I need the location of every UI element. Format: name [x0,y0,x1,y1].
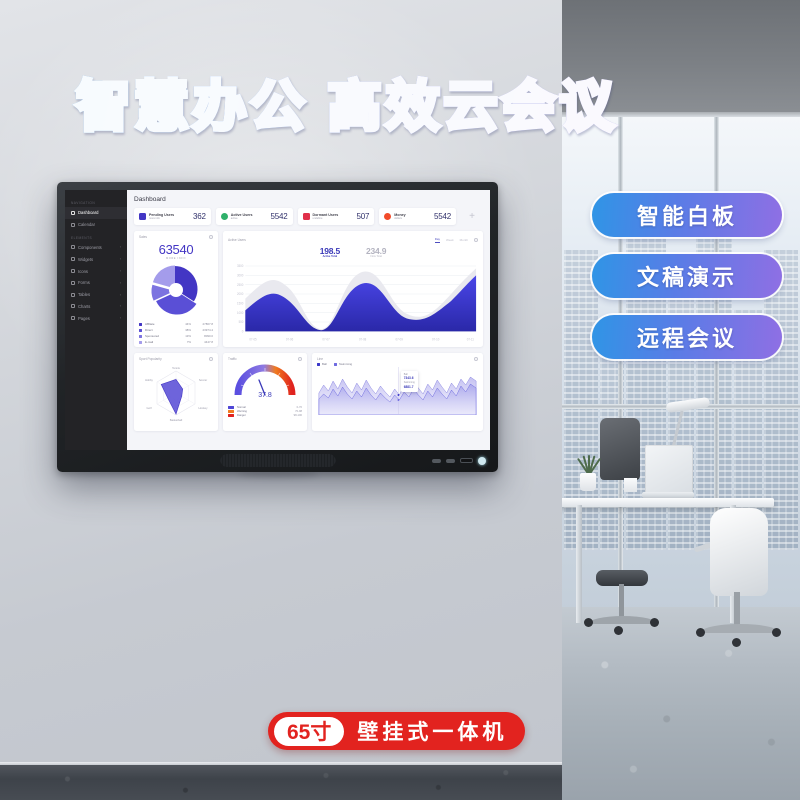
legend-amount: 8090.0 [191,334,213,338]
chart-row-primary: Sales 63540 MORE INFO [134,231,483,347]
svg-text:07-06: 07-06 [286,337,294,341]
gear-icon[interactable] [209,235,213,239]
svg-text:2500: 2500 [237,283,244,287]
svg-text:07-07: 07-07 [322,337,330,341]
desk-top [562,498,774,507]
legend-item-swimming: Swimming [334,362,352,366]
sidebar-item-label: Tables [78,292,117,297]
speaker-grille [220,454,335,467]
stat-subtitle: undefine [313,217,339,220]
card-line-chart: Line Ball Swimming [312,353,483,431]
office-chair-dark-back [600,418,640,480]
feature-pill-remote-meeting[interactable]: 远程会议 [592,315,782,359]
widgets-icon [71,257,75,261]
chevron-right-icon: › [120,281,121,285]
dashboard-sidebar: NAVIGATION Dashboard Calendar ELEMENTS C… [65,190,127,450]
forms-icon [71,281,75,285]
legend-label: Normal [237,406,297,409]
interactive-display-device: NAVIGATION Dashboard Calendar ELEMENTS C… [57,182,498,472]
power-slot[interactable] [460,458,473,463]
sidebar-item-forms[interactable]: Forms › [65,277,127,289]
stat-card-active-users[interactable]: Active Users active 5542 [216,208,293,225]
sidebar-item-widgets[interactable]: Widgets › [65,253,127,265]
area-chart-tabs: 07-05 Day Week Month [429,235,478,245]
card-title: Active Users [228,238,246,242]
sidebar-item-dashboard[interactable]: Dashboard [65,207,127,219]
sidebar-item-label: Calendar [78,222,121,227]
chair-caster [614,626,623,635]
pages-icon [71,316,75,320]
legend-label: Danger [237,414,294,417]
legend-percent: 38% [175,328,191,332]
chevron-right-icon: › [120,269,121,273]
line-chart-plot: Ball 7343.6 Swimming 6881.7 [317,367,478,415]
feature-pill-whiteboard[interactable]: 智能白板 [592,193,782,237]
sidebar-item-label: Dashboard [78,210,121,215]
volume-up-button[interactable] [446,459,455,463]
svg-text:0: 0 [242,329,244,333]
flag-icon [139,213,146,220]
badge-screen-size: 65寸 [274,717,344,746]
legend-swatch [228,414,234,417]
sidebar-item-charts[interactable]: Charts › [65,300,127,312]
office-floor [562,607,800,800]
card-sales-donut: Sales 63540 MORE INFO [134,231,218,347]
legend-swatch [334,363,337,366]
icons-icon [71,269,75,273]
stat-card-money[interactable]: Money dollars 5542 [379,208,456,225]
legend-label: Sponsored [145,334,175,338]
home-icon [71,211,75,215]
legend-item-ball: Ball [317,362,327,366]
svg-text:1500: 1500 [237,301,244,305]
legend-row: Warning 70-98 [228,409,302,413]
gauge-chart: 37.8 [228,361,302,399]
card-title: Line [317,357,323,361]
legend-row: E-mail 7% 4447.8 [139,339,213,345]
stat-card-dormant-users[interactable]: Dormant Users undefine 507 [298,208,375,225]
radar-chart: Tennis Soccer Hockey Basketball Golf Hob… [139,361,213,423]
chair-caster [650,618,659,627]
donut-center-label: MORE INFO [139,257,213,260]
potted-plant-pot [580,473,596,491]
sidebar-item-pages[interactable]: Pages › [65,312,127,324]
feature-pill-list: 智能白板 文稿演示 远程会议 [592,193,782,376]
power-indicator-icon [478,457,486,465]
coin-icon [384,213,391,220]
area-chart-plot: 3500 3000 2500 2000 1500 1000 500 0 07-0… [228,259,478,343]
tab-day-label[interactable]: Day [435,237,440,243]
leaf-icon [221,213,228,220]
card-traffic-gauge: Traffic [223,353,307,431]
legend-range: 70-98 [295,410,302,413]
sidebar-item-icons[interactable]: Icons › [65,265,127,277]
office-chair-white-back [710,508,768,596]
sidebar-item-label: Charts [78,304,117,309]
legend-row: Normal 0-70 [228,405,302,409]
laptop-screen [645,445,693,494]
legend-swatch [317,363,320,366]
stat-value: 5542 [271,212,288,221]
legend-label: E-mail [145,340,175,344]
svg-text:2000: 2000 [237,292,244,296]
sidebar-item-tables[interactable]: Tables › [65,289,127,301]
donut-chart [139,263,213,317]
sidebar-item-label: Forms [78,280,117,285]
chair-caster [772,628,781,637]
sidebar-item-label: Widgets [78,257,117,262]
tab-week[interactable]: Week [446,238,454,243]
potted-plant-leaves [580,448,597,475]
gear-icon[interactable] [474,357,478,361]
legend-amount: 23974.4 [191,328,213,332]
legend-row: Danger 98-100 [228,413,302,417]
radar-axis-label: Tennis [172,366,180,370]
legend-percent: 44% [175,322,191,326]
display-screen: NAVIGATION Dashboard Calendar ELEMENTS C… [65,190,490,450]
stat-subtitle: dollars [394,217,405,220]
legend-range: 0-70 [297,406,302,409]
line-chart-tooltip: Ball 7343.6 Swimming 6881.7 [401,371,418,392]
radar-axis-label: Hockey [199,406,209,410]
calendar-icon [71,223,75,227]
chevron-right-icon: › [120,293,121,297]
svg-text:07-05: 07-05 [249,337,257,341]
legend-label: Swimming [339,362,352,366]
heart-icon [303,213,310,220]
chair-caster [696,628,705,637]
legend-swatch [228,410,234,413]
chevron-right-icon: › [120,304,121,308]
stat-subtitle: active [231,217,253,220]
chair-caster [584,618,593,627]
dashboard-main: Dashboard Pending Users more info 362 [127,190,490,450]
legend-swatch [139,323,142,326]
product-spec-badge: 65寸 壁挂式一体机 [268,712,525,750]
chart-row-secondary: Sport Popularity [134,353,483,431]
chevron-right-icon: › [120,316,121,320]
legend-percent: 7% [175,340,191,344]
add-stat-card-button[interactable]: + [461,208,483,225]
chevron-right-icon: › [120,245,121,249]
legend-label: Ball [322,362,327,366]
legend-swatch [139,329,142,332]
kpi-flow-total: 234.9 Flow Total [366,246,386,258]
legend-swatch [139,341,142,344]
kpi-active-total: 198.5 Active Total [320,246,340,258]
volume-down-button[interactable] [432,459,441,463]
components-icon [71,245,75,249]
area-kpi-row: 198.5 Active Total 234.9 Flow Total [228,246,478,258]
gauge-value: 37.8 [258,392,272,399]
svg-text:07-08: 07-08 [359,337,367,341]
sidebar-item-label: Components [78,245,117,250]
stat-card-row: Pending Users more info 362 Active Users… [134,208,483,225]
device-bottom-bezel: SPARK [65,452,490,469]
svg-text:1000: 1000 [237,311,244,315]
card-sport-popularity-radar: Sport Popularity [134,353,218,431]
legend-label: Affiliate [145,322,175,326]
donut-center-value: 63540 [139,242,213,257]
charts-icon [71,304,75,308]
sidebar-item-calendar[interactable]: Calendar [65,219,127,231]
device-controls [432,457,486,465]
radar-axis-label: Hobby [145,378,153,382]
sidebar-item-components[interactable]: Components › [65,242,127,254]
legend-percent: 13% [175,334,191,338]
line-legend: Ball Swimming [317,362,478,366]
office-chair-dark-post [619,584,624,620]
stat-card-pending-users[interactable]: Pending Users more info 362 [134,208,211,225]
svg-text:07-10: 07-10 [432,337,440,341]
svg-text:07-09: 07-09 [395,337,403,341]
legend-amount: 27867.8 [191,322,213,326]
concrete-floor-left [0,765,562,800]
svg-text:07-11: 07-11 [467,337,474,341]
legend-range: 98-100 [294,414,302,417]
chair-caster [732,638,741,647]
legend-amount: 4447.8 [191,340,213,344]
gauge-legend: Normal 0-70 Warning 70-98 Danger 98-100 [228,405,302,418]
sidebar-section-label-elements: ELEMENTS [65,231,127,242]
legend-swatch [228,406,234,409]
radar-series [161,379,183,414]
sidebar-item-label: Icons [78,269,117,274]
legend-label: Warning [237,410,295,413]
poster-headline: 智慧办公 高效云会议 [0,62,694,141]
svg-text:3500: 3500 [237,264,244,268]
card-title: Sales [139,235,147,239]
radar-axis-label: Soccer [199,378,207,382]
legend-swatch [139,335,142,338]
sidebar-item-label: Pages [78,316,117,321]
tab-month[interactable]: Month [460,238,468,243]
donut-legend: Affiliate 44% 27867.8 Direct 38% 23974.4 [139,321,213,345]
feature-pill-presentation[interactable]: 文稿演示 [592,254,782,298]
stat-value: 507 [357,212,370,221]
gear-icon[interactable] [474,238,478,242]
svg-text:500: 500 [239,320,244,324]
kpi-label: Active Total [320,255,340,258]
stat-value: 5542 [434,212,451,221]
page-title: Dashboard [134,196,483,203]
svg-text:3000: 3000 [237,273,244,277]
radar-axis-label: Basketball [170,418,183,422]
tooltip-value: 6881.7 [404,385,415,390]
radar-axis-label: Golf [147,406,152,410]
desk-leg [576,505,582,623]
chevron-right-icon: › [120,257,121,261]
stat-value: 362 [193,212,206,221]
legend-label: Direct [145,328,175,332]
sidebar-section-label-navigation: NAVIGATION [65,196,127,207]
badge-mount-type: 壁挂式一体机 [357,716,507,746]
pen-cup [624,478,637,492]
tables-icon [71,293,75,297]
stat-subtitle: more info [149,217,174,220]
card-active-users-area: Active Users 07-05 Day Week Month 198.5 [223,231,483,347]
